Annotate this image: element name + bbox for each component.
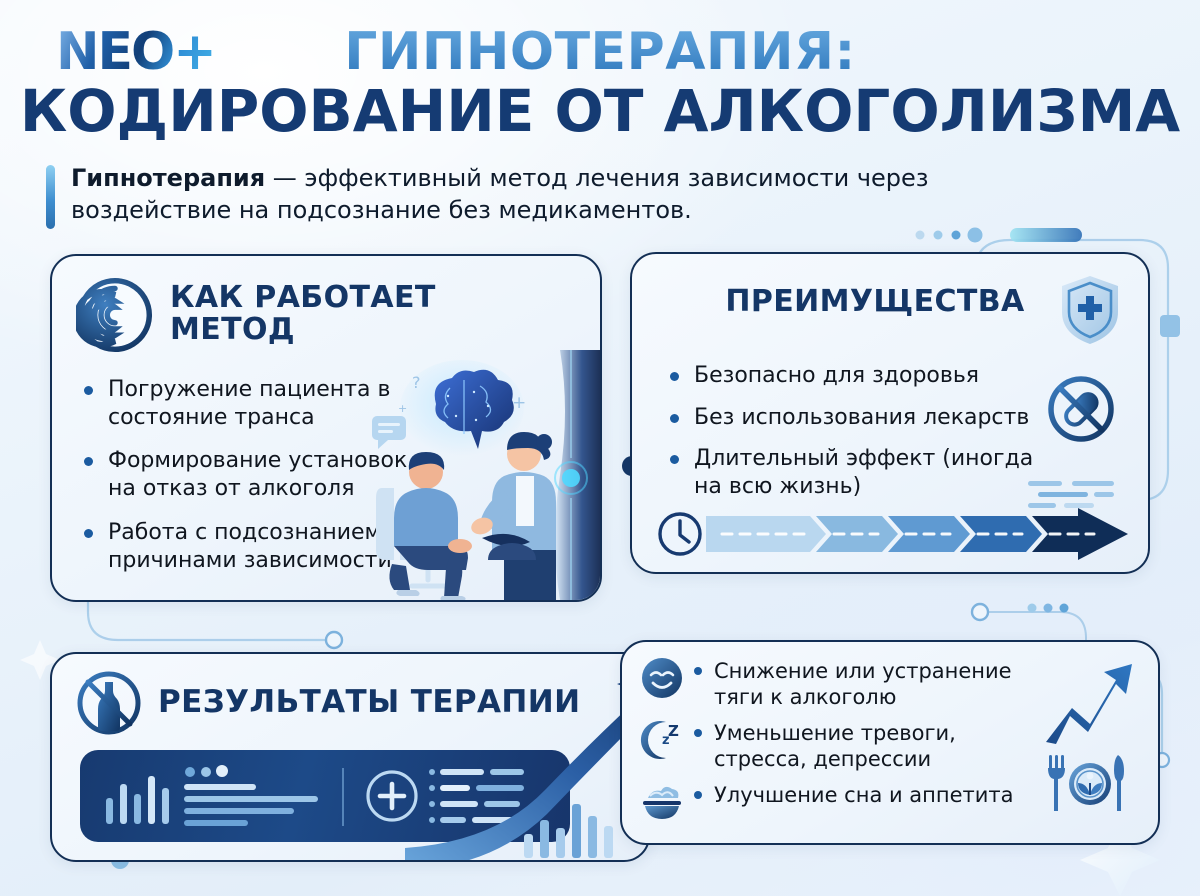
list-item-label: Снижение или устранение тяги к алкоголю: [694, 656, 1040, 710]
results-data-panel: [80, 750, 570, 842]
bar-chart-icon: [106, 776, 169, 824]
benefits-bullet-list: Безопасно для здоровья Без использования…: [668, 362, 1068, 515]
card-header: КАК РАБОТАЕТ МЕТОД: [76, 276, 450, 354]
card-therapy-effects: Снижение или устранение тяги к алкоголю …: [620, 640, 1160, 845]
growth-arrow-icon: [1042, 650, 1134, 750]
card-benefits: ПРЕИМУЩЕСТВА Безопасно для здоровья Без …: [630, 252, 1150, 574]
healthy-food-bowl-icon: [640, 780, 684, 824]
list-item: Длительный эффект (иногда на всю жизнь): [668, 445, 1068, 500]
list-item: z Z Уменьшение тревоги, стресса, депресс…: [640, 718, 1040, 772]
circuit-node: [326, 632, 342, 648]
clock-icon: [660, 514, 700, 554]
svg-text:Z: Z: [668, 722, 679, 740]
chat-bubble-icon: [372, 416, 406, 449]
knife-icon: [1114, 755, 1124, 811]
no-pills-icon: [1046, 374, 1116, 444]
circuit-dots: [916, 228, 983, 243]
circuit-dots: [1028, 604, 1069, 613]
analytics-graphic: [80, 750, 570, 842]
subtitle-text: Гипнотерапия — эффективный метод лечения…: [71, 163, 1081, 226]
card-title: РЕЗУЛЬТАТЫ ТЕРАПИИ: [158, 686, 580, 719]
therapy-session-illustration: ? + +: [364, 350, 602, 600]
card-how-method-works: КАК РАБОТАЕТ МЕТОД Погружение пациента в…: [50, 254, 602, 602]
page-title: ГИПНОТЕРАПИЯ: КОДИРОВАНИЕ ОТ АЛКОГОЛИЗМА: [0, 26, 1200, 142]
list-item-label: Улучшение сна и аппетита: [694, 780, 1014, 808]
hypnosis-spiral-icon: [76, 276, 154, 354]
svg-text:?: ?: [412, 373, 421, 392]
circuit-node-square: [1160, 315, 1180, 337]
list-item-label: Уменьшение тревоги, стресса, депрессии: [694, 718, 1040, 772]
title-line-1: ГИПНОТЕРАПИЯ:: [0, 26, 1200, 79]
duration-timeline: [656, 508, 1130, 560]
svg-text:+: +: [512, 393, 526, 413]
subtitle-block: Гипнотерапия — эффективный метод лечения…: [46, 163, 1126, 229]
calm-face-icon: [640, 656, 684, 700]
accent-bar: [46, 165, 55, 229]
infographic-poster: NEO+ ГИПНОТЕРАПИЯ: КОДИРОВАНИЕ ОТ АЛКОГО…: [0, 0, 1200, 896]
list-item: Безопасно для здоровья: [668, 362, 1068, 390]
card-title: КАК РАБОТАЕТ МЕТОД: [170, 276, 450, 347]
card-header: РЕЗУЛЬТАТЫ ТЕРАПИИ: [74, 668, 580, 738]
circle-plus-icon: [368, 772, 416, 820]
sleeping-moon-icon: z Z: [640, 718, 684, 762]
plate-fork-knife-icon: [1044, 751, 1128, 815]
list-item: Без использования лекарств: [668, 404, 1068, 432]
subtitle-lead: Гипнотерапия: [71, 164, 265, 192]
list-item: Улучшение сна и аппетита: [640, 780, 1040, 824]
card-therapy-results: РЕЗУЛЬТАТЫ ТЕРАПИИ: [50, 652, 650, 862]
circuit-node: [972, 604, 988, 620]
title-line-2: КОДИРОВАНИЕ ОТ АЛКОГОЛИЗМА: [0, 81, 1200, 142]
no-alcohol-bottle-icon: [74, 668, 144, 738]
shield-cross-icon: [1058, 274, 1122, 346]
list-item: Снижение или устранение тяги к алкоголю: [640, 656, 1040, 710]
effects-list: Снижение или устранение тяги к алкоголю …: [640, 656, 1040, 832]
fork-icon: [1048, 755, 1065, 811]
svg-text:+: +: [398, 402, 407, 415]
